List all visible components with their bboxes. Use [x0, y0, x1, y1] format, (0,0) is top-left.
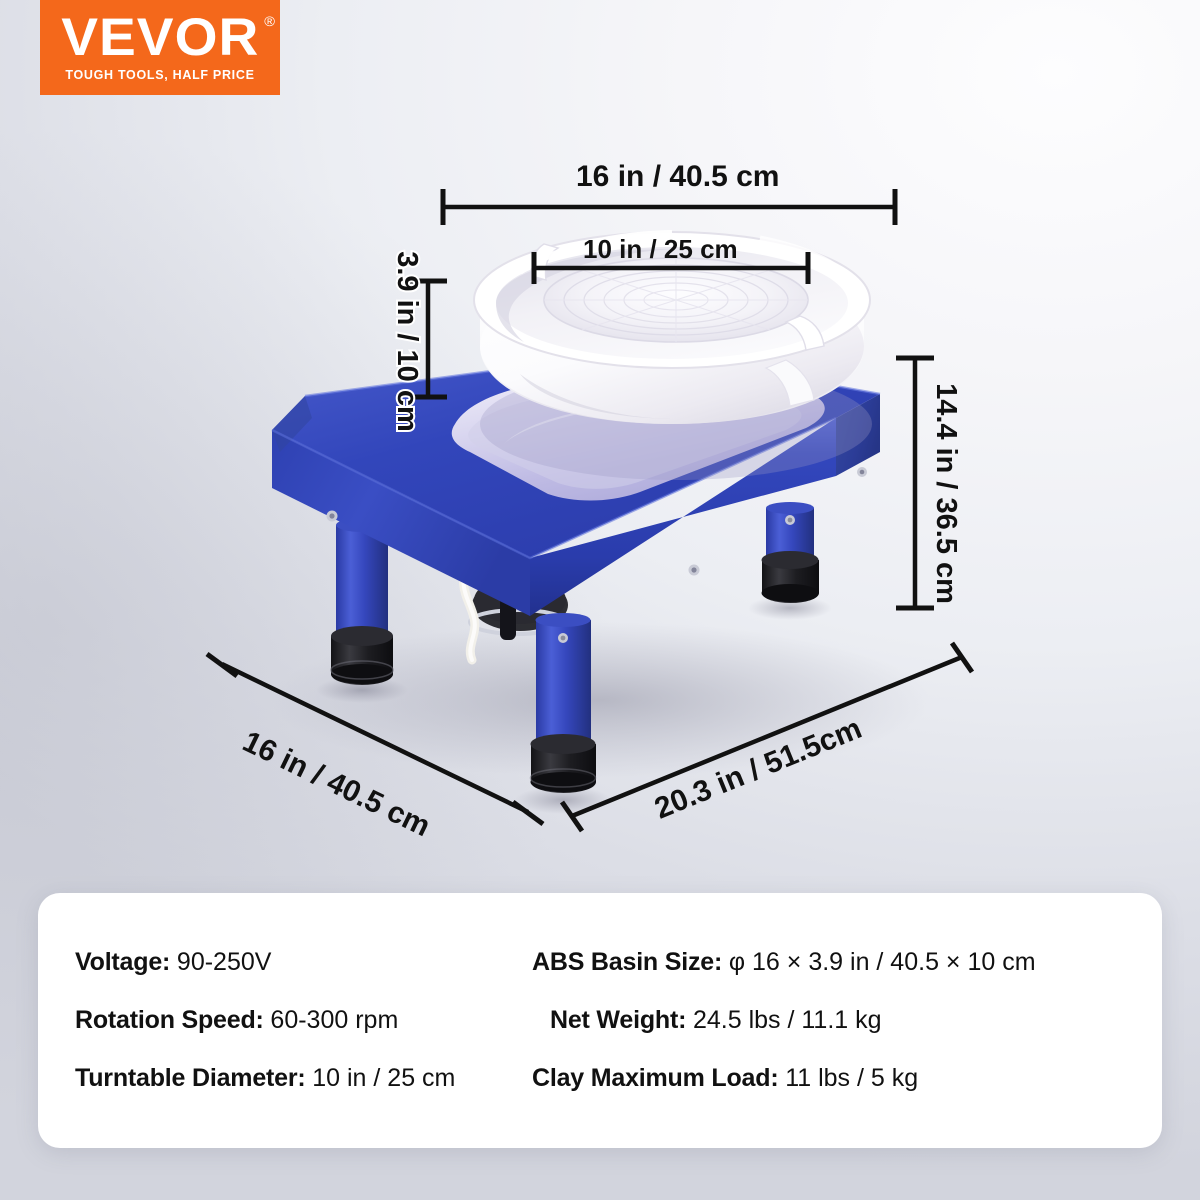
spec-rotation-speed-value: 60-300 rpm — [270, 1006, 398, 1034]
spec-net-weight-label: Net Weight: — [550, 1006, 693, 1034]
spec-rotation-speed: Rotation Speed: 60-300 rpm — [38, 1006, 532, 1035]
spec-clay-max-load-label: Clay Maximum Load: — [532, 1064, 785, 1092]
spec-turntable-diameter-value: 10 in / 25 cm — [312, 1064, 455, 1092]
spec-voltage: Voltage: 90-250V — [38, 948, 532, 977]
spec-net-weight-value: 24.5 lbs / 11.1 kg — [693, 1006, 882, 1034]
leg-rear-right — [748, 502, 832, 620]
spec-voltage-label: Voltage: — [75, 948, 177, 976]
specifications-panel: Voltage: 90-250V ABS Basin Size: φ 16 × … — [38, 893, 1162, 1148]
spec-abs-basin-size: ABS Basin Size: φ 16 × 3.9 in / 40.5 × 1… — [532, 948, 1162, 977]
spec-turntable-diameter: Turntable Diameter: 10 in / 25 cm — [38, 1064, 532, 1093]
spec-rotation-speed-label: Rotation Speed: — [75, 1006, 270, 1034]
specifications-grid: Voltage: 90-250V ABS Basin Size: φ 16 × … — [38, 933, 1162, 1107]
spec-net-weight: Net Weight: 24.5 lbs / 11.1 kg — [532, 1006, 1162, 1035]
product-image — [0, 0, 1200, 900]
spec-voltage-value: 90-250V — [177, 948, 272, 976]
spec-clay-maximum-load: Clay Maximum Load: 11 lbs / 5 kg — [532, 1064, 1162, 1093]
spec-turntable-diameter-label: Turntable Diameter: — [75, 1064, 312, 1092]
abs-basin — [474, 232, 872, 480]
product-spec-image: VEVOR® TOUGH TOOLS, HALF PRICE — [0, 0, 1200, 1200]
registered-trademark-icon: ® — [264, 15, 275, 28]
brand-wordmark: VEVOR® — [61, 13, 259, 63]
brand-tagline: TOUGH TOOLS, HALF PRICE — [65, 68, 254, 82]
spec-abs-basin-size-label: ABS Basin Size: — [532, 948, 729, 976]
vevor-logo: VEVOR® TOUGH TOOLS, HALF PRICE — [40, 0, 280, 95]
spec-clay-max-load-value: 11 lbs / 5 kg — [785, 1064, 918, 1092]
spec-abs-basin-size-value: φ 16 × 3.9 in / 40.5 × 10 cm — [729, 948, 1036, 976]
brand-name: VEVOR — [61, 8, 259, 67]
